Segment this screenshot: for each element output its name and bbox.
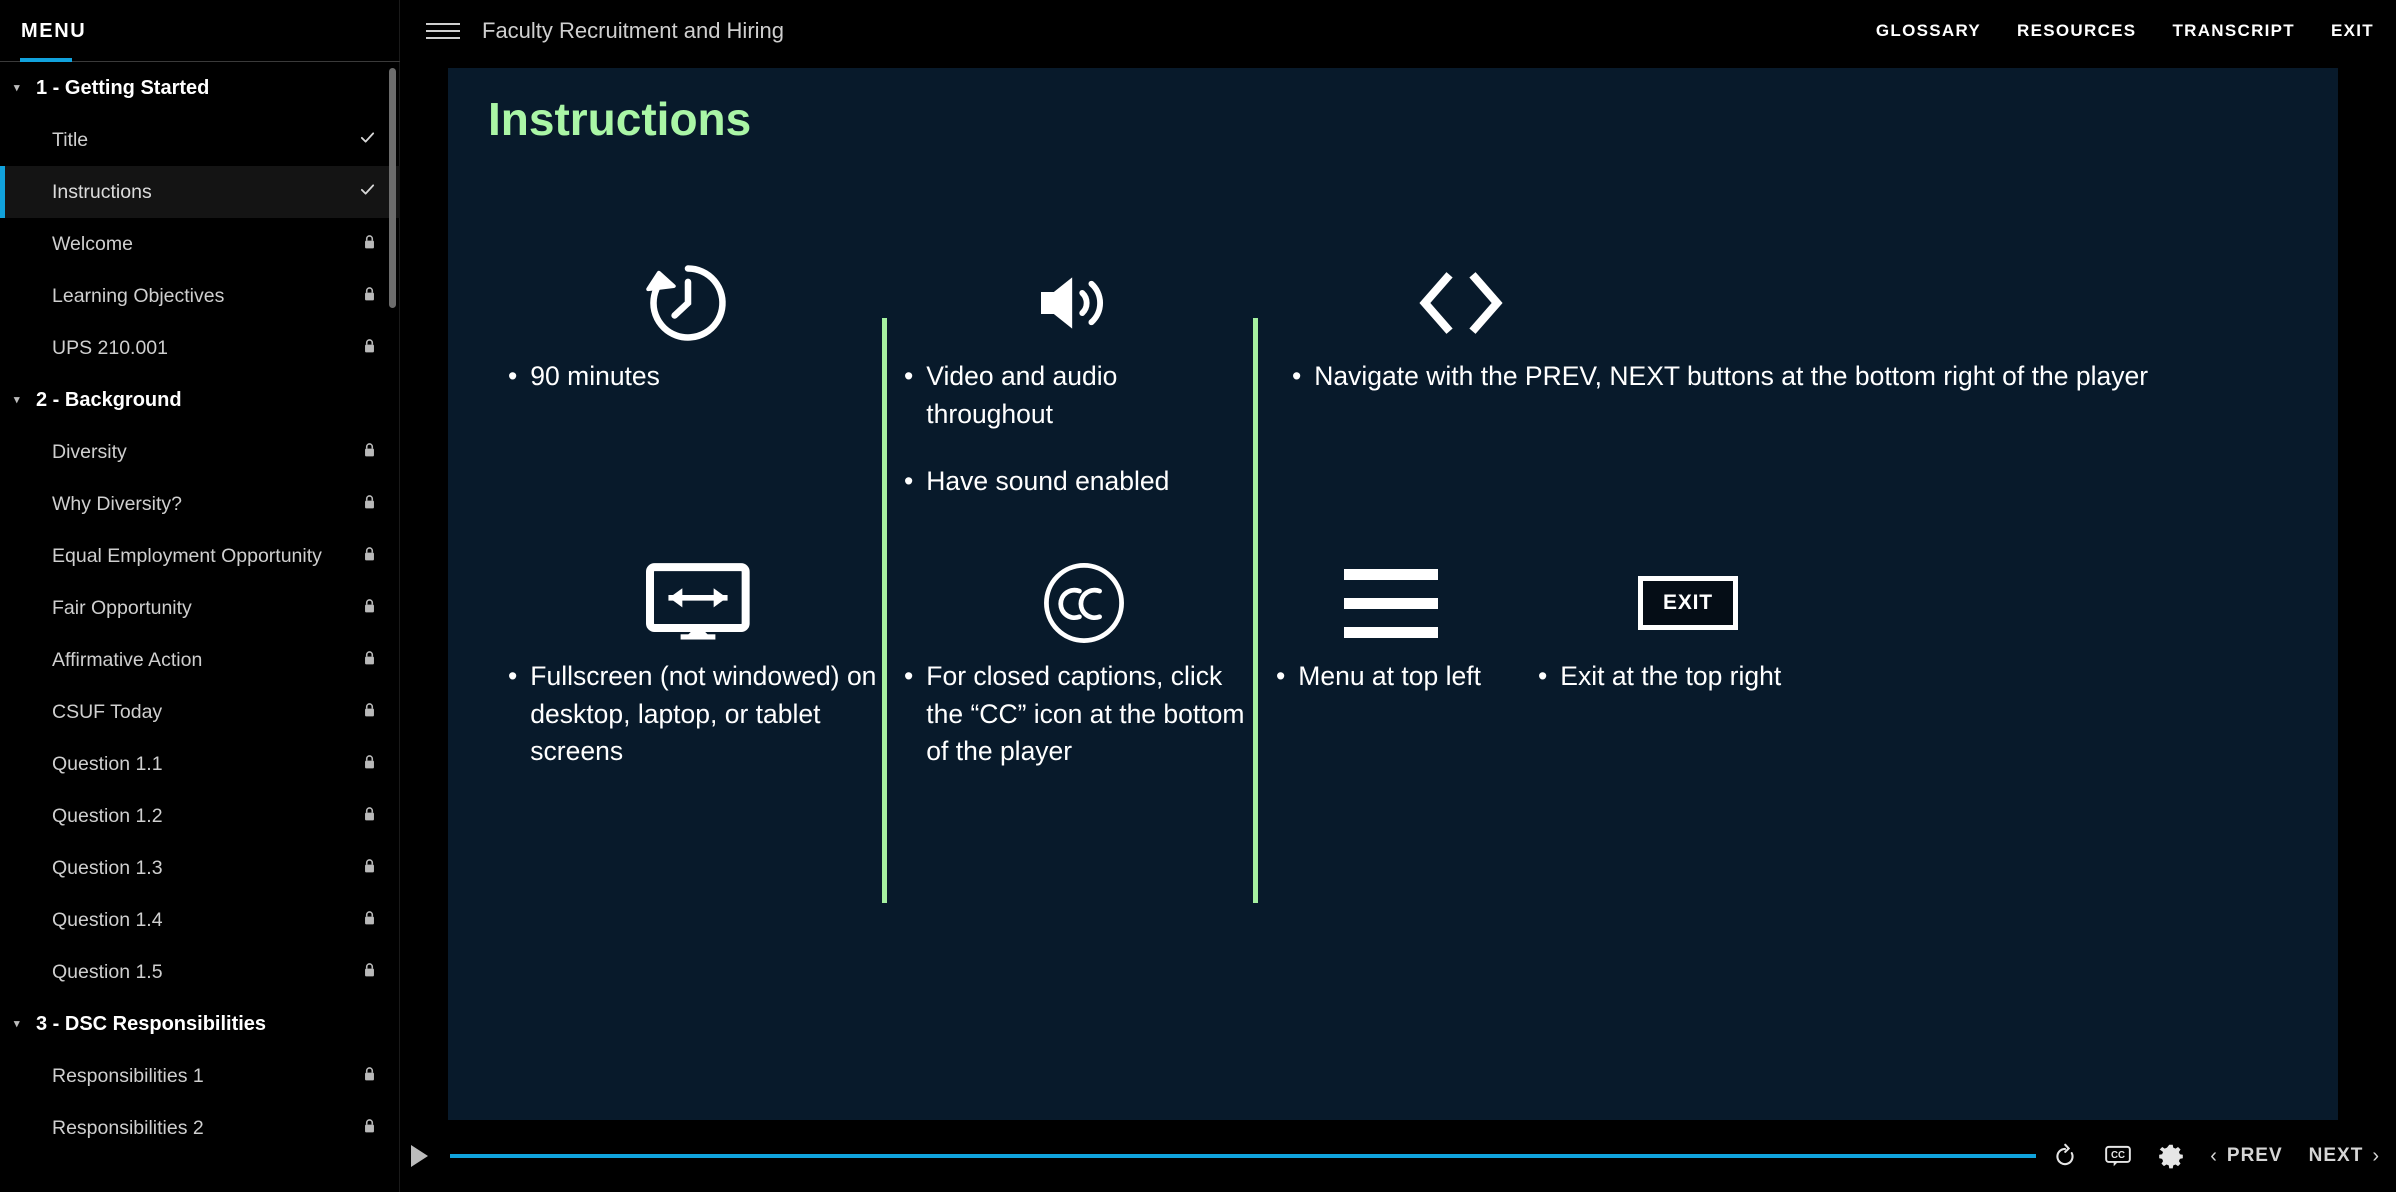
topbar-link-transcript[interactable]: TRANSCRIPT — [2172, 21, 2295, 41]
instruction-cell-text: • Navigate with the PREV, NEXT buttons a… — [1276, 358, 2286, 396]
sidebar-item-label: Responsibilities 2 — [52, 1117, 204, 1140]
instruction-cell-text: • 90 minutes — [508, 358, 868, 396]
player-control-bar: CC ‹ PREV NEXT › — [400, 1120, 2396, 1192]
sidebar-item-label: Question 1.1 — [52, 753, 163, 776]
chevron-left-icon: ‹ — [2210, 1145, 2218, 1168]
top-bar-links: GLOSSARYRESOURCESTRANSCRIPTEXIT — [1876, 21, 2396, 41]
instructions-grid: • 90 minutes • Video an — [448, 248, 2338, 1018]
instruction-line: 90 minutes — [530, 358, 868, 396]
instruction-cell-captions: • For closed captions, click the “CC” ic… — [904, 548, 1264, 801]
course-title: Faculty Recruitment and Hiring — [482, 18, 784, 44]
sidebar-item-label: Fair Opportunity — [52, 597, 192, 620]
chevron-down-icon[interactable]: ▾ — [14, 395, 32, 406]
sidebar-item-label: Question 1.2 — [52, 805, 163, 828]
instruction-cell-text: • Exit at the top right — [1538, 658, 1838, 696]
sidebar-group-3[interactable]: ▾3 - DSC Responsibilities — [0, 998, 400, 1050]
hamburger-line — [426, 37, 460, 39]
sidebar-item-equal-employment-opportunity[interactable]: Equal Employment Opportunity — [0, 530, 400, 582]
bullet-dot: • — [904, 358, 913, 433]
slide-title: Instructions — [488, 92, 751, 146]
instruction-line: Navigate with the PREV, NEXT buttons at … — [1314, 358, 2286, 396]
sidebar-item-label: Welcome — [52, 233, 133, 256]
svg-text:CC: CC — [2111, 1150, 2125, 1161]
settings-gear-icon[interactable] — [2158, 1143, 2184, 1169]
instruction-cell-text: • Fullscreen (not windowed) on desktop, … — [508, 658, 888, 771]
bullet-dot: • — [1538, 658, 1547, 696]
instruction-cell-text: • For closed captions, click the “CC” ic… — [904, 658, 1264, 771]
sidebar-item-why-diversity[interactable]: Why Diversity? — [0, 478, 400, 530]
cc-icon[interactable]: CC — [2104, 1143, 2132, 1169]
sidebar-item-label: Responsibilities 1 — [52, 1065, 204, 1088]
sidebar-item-label: Question 1.5 — [52, 961, 163, 984]
locked-lock-icon — [354, 857, 376, 880]
locked-lock-icon — [354, 285, 376, 308]
player-right-controls: CC ‹ PREV NEXT › — [2052, 1143, 2396, 1169]
locked-lock-icon — [354, 805, 376, 828]
sidebar-item-csuf-today[interactable]: CSUF Today — [0, 686, 400, 738]
sidebar-item-ups-210-001[interactable]: UPS 210.001 — [0, 322, 400, 374]
clock-history-icon — [508, 248, 868, 358]
sidebar-group-label: 2 - Background — [36, 389, 182, 412]
locked-lock-icon — [354, 909, 376, 932]
sidebar-item-responsibilities-1[interactable]: Responsibilities 1 — [0, 1050, 400, 1102]
slide-stage: Instructions • 90 minutes — [448, 68, 2338, 1120]
sidebar-item-fair-opportunity[interactable]: Fair Opportunity — [0, 582, 400, 634]
hamburger-line — [1344, 627, 1438, 638]
sidebar-item-label: Question 1.4 — [52, 909, 163, 932]
locked-lock-icon — [354, 961, 376, 984]
prev-label: PREV — [2227, 1145, 2283, 1167]
sidebar-item-label: CSUF Today — [52, 701, 162, 724]
locked-lock-icon — [354, 753, 376, 776]
sidebar-item-label: Title — [52, 129, 88, 152]
completed-check-icon — [354, 129, 376, 152]
locked-lock-icon — [354, 545, 376, 568]
locked-lock-icon — [354, 337, 376, 360]
instruction-cell-navigation: • Navigate with the PREV, NEXT buttons a… — [1276, 248, 2286, 426]
instruction-line: Exit at the top right — [1560, 658, 1838, 696]
course-player-window: MENU ▾1 - Getting StartedTitleInstructio… — [0, 0, 2396, 1192]
speaker-volume-icon — [904, 248, 1244, 358]
sidebar-item-diversity[interactable]: Diversity — [0, 426, 400, 478]
hamburger-line — [1344, 598, 1438, 609]
instruction-line: Video and audio throughout — [926, 358, 1244, 433]
hamburger-line — [1344, 569, 1438, 580]
sidebar-item-label: Equal Employment Opportunity — [52, 545, 322, 568]
sidebar-item-label: Why Diversity? — [52, 493, 182, 516]
sidebar-item-question-1-4[interactable]: Question 1.4 — [0, 894, 400, 946]
hamburger-line — [426, 23, 460, 25]
instruction-line: For closed captions, click the “CC” icon… — [926, 658, 1264, 771]
locked-lock-icon — [354, 701, 376, 724]
sidebar-group-label: 3 - DSC Responsibilities — [36, 1013, 266, 1036]
sidebar-outline-list[interactable]: ▾1 - Getting StartedTitleInstructionsWel… — [0, 62, 400, 1192]
sidebar-item-question-1-3[interactable]: Question 1.3 — [0, 842, 400, 894]
sidebar-menu-label: MENU — [0, 20, 86, 43]
sidebar-item-instructions[interactable]: Instructions — [0, 166, 400, 218]
locked-lock-icon — [354, 649, 376, 672]
instruction-cell-duration: • 90 minutes — [508, 248, 868, 426]
completed-check-icon — [354, 181, 376, 204]
instruction-cell-audio: • Video and audio throughout • Have soun… — [904, 248, 1244, 531]
monitor-fullscreen-icon — [508, 548, 888, 658]
instruction-cell-text: • Video and audio throughout • Have soun… — [904, 358, 1244, 501]
replay-icon[interactable] — [2052, 1143, 2078, 1169]
sidebar-item-learning-objectives[interactable]: Learning Objectives — [0, 270, 400, 322]
instruction-cell-fullscreen: • Fullscreen (not windowed) on desktop, … — [508, 548, 888, 801]
topbar-link-resources[interactable]: RESOURCES — [2017, 21, 2136, 41]
bullet-dot: • — [1276, 658, 1285, 696]
play-icon[interactable] — [411, 1145, 428, 1167]
instruction-cell-text: • Menu at top left — [1276, 658, 1506, 696]
sidebar-item-question-1-1[interactable]: Question 1.1 — [0, 738, 400, 790]
next-label: NEXT — [2309, 1145, 2364, 1167]
topbar-link-glossary[interactable]: GLOSSARY — [1876, 21, 1981, 41]
sidebar-item-label: Learning Objectives — [52, 285, 224, 308]
hamburger-menu-icon — [1276, 548, 1506, 658]
locked-lock-icon — [354, 597, 376, 620]
topbar-link-exit[interactable]: EXIT — [2331, 21, 2374, 41]
bullet-dot: • — [904, 658, 913, 771]
bullet-dot: • — [508, 358, 517, 396]
locked-lock-icon — [354, 441, 376, 464]
sidebar-item-question-1-5[interactable]: Question 1.5 — [0, 946, 400, 998]
chevron-right-icon: › — [2372, 1145, 2380, 1168]
next-button[interactable]: NEXT › — [2309, 1145, 2380, 1168]
seek-bar[interactable] — [450, 1154, 2036, 1158]
sidebar-item-label: Diversity — [52, 441, 127, 464]
instruction-line: Menu at top left — [1298, 658, 1506, 696]
locked-lock-icon — [354, 1065, 376, 1088]
bullet-dot: • — [508, 658, 517, 771]
sidebar-item-welcome[interactable]: Welcome — [0, 218, 400, 270]
sidebar-menu: MENU ▾1 - Getting StartedTitleInstructio… — [0, 0, 400, 1192]
instruction-cell-exit: EXIT • Exit at the top right — [1538, 548, 1838, 726]
locked-lock-icon — [354, 1117, 376, 1140]
exit-button-icon: EXIT — [1538, 548, 1838, 658]
exit-box-label: EXIT — [1638, 576, 1738, 630]
bullet-dot: • — [904, 463, 913, 501]
sidebar-group-label: 1 - Getting Started — [36, 77, 209, 100]
sidebar-item-label: Question 1.3 — [52, 857, 163, 880]
sidebar-item-label: UPS 210.001 — [52, 337, 168, 360]
sidebar-item-title[interactable]: Title — [0, 114, 400, 166]
closed-caption-circle-icon — [904, 548, 1264, 658]
top-bar: Faculty Recruitment and Hiring GLOSSARYR… — [400, 0, 2396, 62]
prev-next-chevrons-icon — [1276, 248, 2286, 358]
instruction-line: Fullscreen (not windowed) on desktop, la… — [530, 658, 888, 771]
chevron-down-icon[interactable]: ▾ — [14, 1019, 32, 1030]
locked-lock-icon — [354, 233, 376, 256]
sidebar-scrollbar-thumb[interactable] — [389, 68, 396, 308]
sidebar-item-affirmative-action[interactable]: Affirmative Action — [0, 634, 400, 686]
sidebar-item-question-1-2[interactable]: Question 1.2 — [0, 790, 400, 842]
instruction-line: Have sound enabled — [926, 463, 1244, 501]
sidebar-group-2[interactable]: ▾2 - Background — [0, 374, 400, 426]
prev-button[interactable]: ‹ PREV — [2210, 1145, 2282, 1168]
chevron-down-icon[interactable]: ▾ — [14, 83, 32, 94]
hamburger-icon[interactable] — [426, 20, 460, 42]
sidebar-group-1[interactable]: ▾1 - Getting Started — [0, 62, 400, 114]
sidebar-item-label: Instructions — [52, 181, 152, 204]
sidebar-item-responsibilities-2[interactable]: Responsibilities 2 — [0, 1102, 400, 1154]
sidebar-item-label: Affirmative Action — [52, 649, 202, 672]
sidebar-header: MENU — [0, 0, 399, 62]
locked-lock-icon — [354, 493, 376, 516]
hamburger-line — [426, 30, 460, 32]
instruction-cell-menu: • Menu at top left — [1276, 548, 1506, 726]
bullet-dot: • — [1292, 358, 1301, 396]
